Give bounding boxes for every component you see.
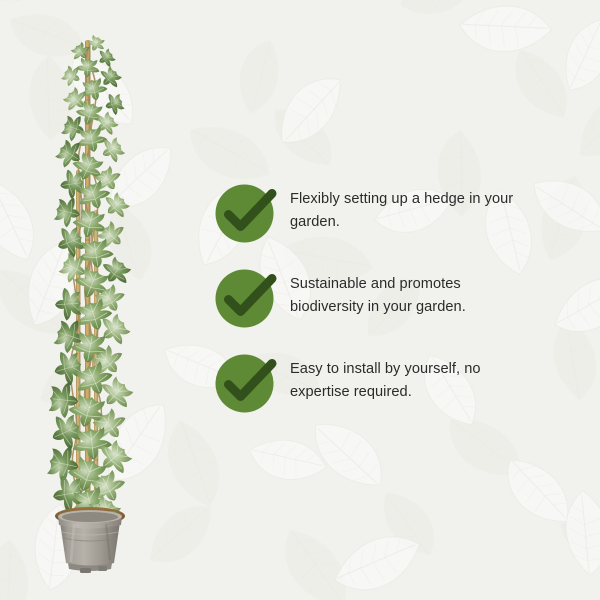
product-feature-card: Flexibly setting up a hedge in your gard… xyxy=(0,0,600,600)
ivy-foliage-middle xyxy=(52,207,135,336)
benefit-text: Sustainable and promotes biodiversity in… xyxy=(290,268,535,318)
benefit-text: Easy to install by yourself, no expertis… xyxy=(290,353,535,403)
check-circle-icon-svg xyxy=(215,268,279,330)
benefits-list: Flexibly setting up a hedge in your gard… xyxy=(215,183,545,438)
benefit-item-1: Flexibly setting up a hedge in your gard… xyxy=(215,183,545,268)
product-image-climbing-ivy xyxy=(18,20,198,580)
benefit-text: Flexibly setting up a hedge in your gard… xyxy=(290,183,535,233)
nursery-pot xyxy=(58,510,122,573)
check-circle-icon xyxy=(215,268,279,330)
ivy-foliage-lower-mid xyxy=(48,310,137,432)
benefit-item-3: Easy to install by yourself, no expertis… xyxy=(215,353,545,438)
check-circle-icon-svg xyxy=(215,183,279,245)
climbing-ivy-illustration xyxy=(18,20,198,580)
check-circle-icon xyxy=(215,353,279,415)
ivy-foliage-top xyxy=(60,34,126,144)
check-circle-icon-svg xyxy=(215,353,279,415)
check-circle-icon xyxy=(215,183,279,245)
benefit-item-2: Sustainable and promotes biodiversity in… xyxy=(215,268,545,353)
